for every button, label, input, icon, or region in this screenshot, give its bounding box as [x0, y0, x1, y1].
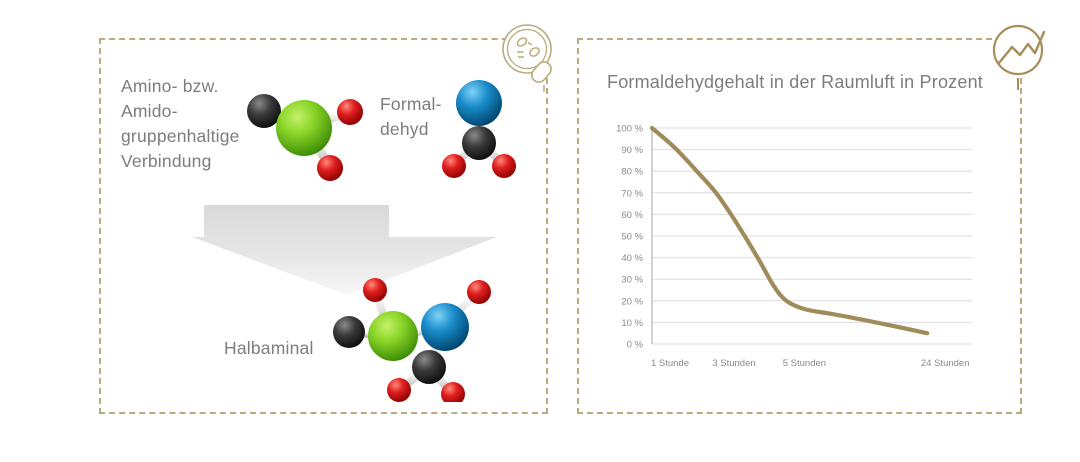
- line-chart: 100 %90 %80 %70 %60 %50 %40 %30 %20 %10 …: [600, 118, 1000, 386]
- y-axis-tick-label: 90 %: [621, 145, 643, 156]
- y-axis-tick-label: 20 %: [621, 296, 643, 307]
- chart-data-line: [652, 128, 927, 333]
- y-axis-tick-label: 100 %: [616, 124, 643, 135]
- formaldehyde-molecule: [437, 70, 522, 185]
- x-axis-tick-label: 1 Stunde: [651, 358, 689, 369]
- y-axis-tick-label: 80 %: [621, 167, 643, 178]
- y-axis-tick-label: 40 %: [621, 253, 643, 264]
- chart-title: Formaldehydgehalt in der Raumluft in Pro…: [607, 72, 983, 93]
- trend-chart-circle-icon: [988, 22, 1056, 94]
- x-axis-tick-label: 5 Stunden: [783, 358, 826, 369]
- y-axis-tick-label: 30 %: [621, 275, 643, 286]
- infographic-stage: Amino- bzw. Amido- gruppenhaltige Verbin…: [0, 0, 1080, 462]
- hemiaminal-molecule: [325, 272, 505, 402]
- y-axis-tick-label: 10 %: [621, 318, 643, 329]
- x-axis-tick-label: 24 Stunden: [921, 358, 970, 369]
- amino-compound-molecule: [238, 78, 373, 188]
- y-axis-tick-label: 60 %: [621, 210, 643, 221]
- y-axis-tick-label: 70 %: [621, 188, 643, 199]
- x-axis-tick-label: 3 Stunden: [712, 358, 755, 369]
- y-axis-tick-label: 50 %: [621, 232, 643, 243]
- y-axis-tick-label: 0 %: [627, 340, 644, 351]
